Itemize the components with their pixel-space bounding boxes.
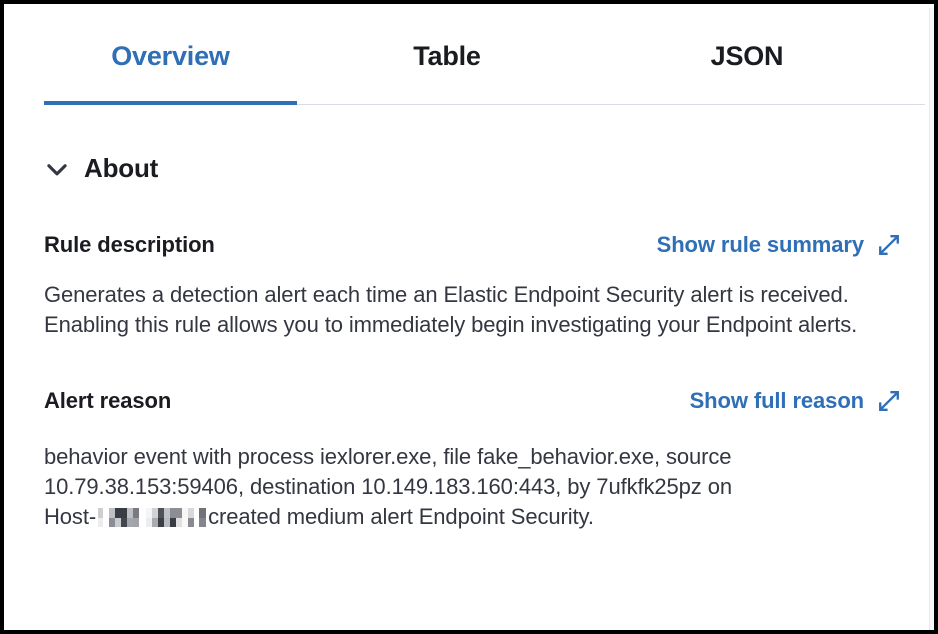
alert-details-flyout: Overview Table JSON About Rule descripti…	[0, 0, 938, 634]
redacted-hostname	[98, 508, 206, 527]
overview-tab-content: About Rule description Show rule summary	[8, 153, 938, 532]
alert-details-panel: Overview Table JSON About Rule descripti…	[8, 8, 938, 634]
show-rule-summary-label: Show rule summary	[657, 232, 864, 258]
details-tabbar: Overview Table JSON	[44, 8, 925, 105]
rule-description-label: Rule description	[44, 232, 215, 258]
about-section-header[interactable]: About	[44, 153, 902, 184]
tab-table[interactable]: Table	[297, 8, 597, 104]
alert-reason-host-prefix: Host-	[44, 504, 96, 529]
show-rule-summary-button[interactable]: Show rule summary	[657, 232, 902, 258]
alert-reason-line-3-suffix: created medium alert Endpoint Security.	[208, 504, 594, 529]
alert-reason-line-1: behavior event with process iexlorer.exe…	[44, 442, 892, 472]
vertical-scrollbar-track[interactable]	[929, 8, 938, 634]
show-full-reason-label: Show full reason	[690, 388, 864, 414]
expand-icon[interactable]	[876, 388, 902, 414]
chevron-down-icon[interactable]	[44, 156, 70, 182]
alert-reason-label: Alert reason	[44, 388, 171, 414]
alert-reason-text: behavior event with process iexlorer.exe…	[44, 442, 892, 532]
alert-reason-line-2: 10.79.38.153:59406, destination 10.149.1…	[44, 472, 892, 502]
expand-icon[interactable]	[876, 232, 902, 258]
tab-json[interactable]: JSON	[597, 8, 897, 104]
alert-reason-line-3: Host-created medium alert Endpoint Secur…	[44, 502, 892, 532]
show-full-reason-button[interactable]: Show full reason	[690, 388, 902, 414]
rule-description-header: Rule description Show rule summary	[44, 232, 902, 258]
tab-overview[interactable]: Overview	[44, 8, 297, 104]
rule-description-text: Generates a detection alert each time an…	[44, 280, 892, 340]
alert-reason-header: Alert reason Show full reason	[44, 388, 902, 414]
about-section-title: About	[84, 153, 158, 184]
